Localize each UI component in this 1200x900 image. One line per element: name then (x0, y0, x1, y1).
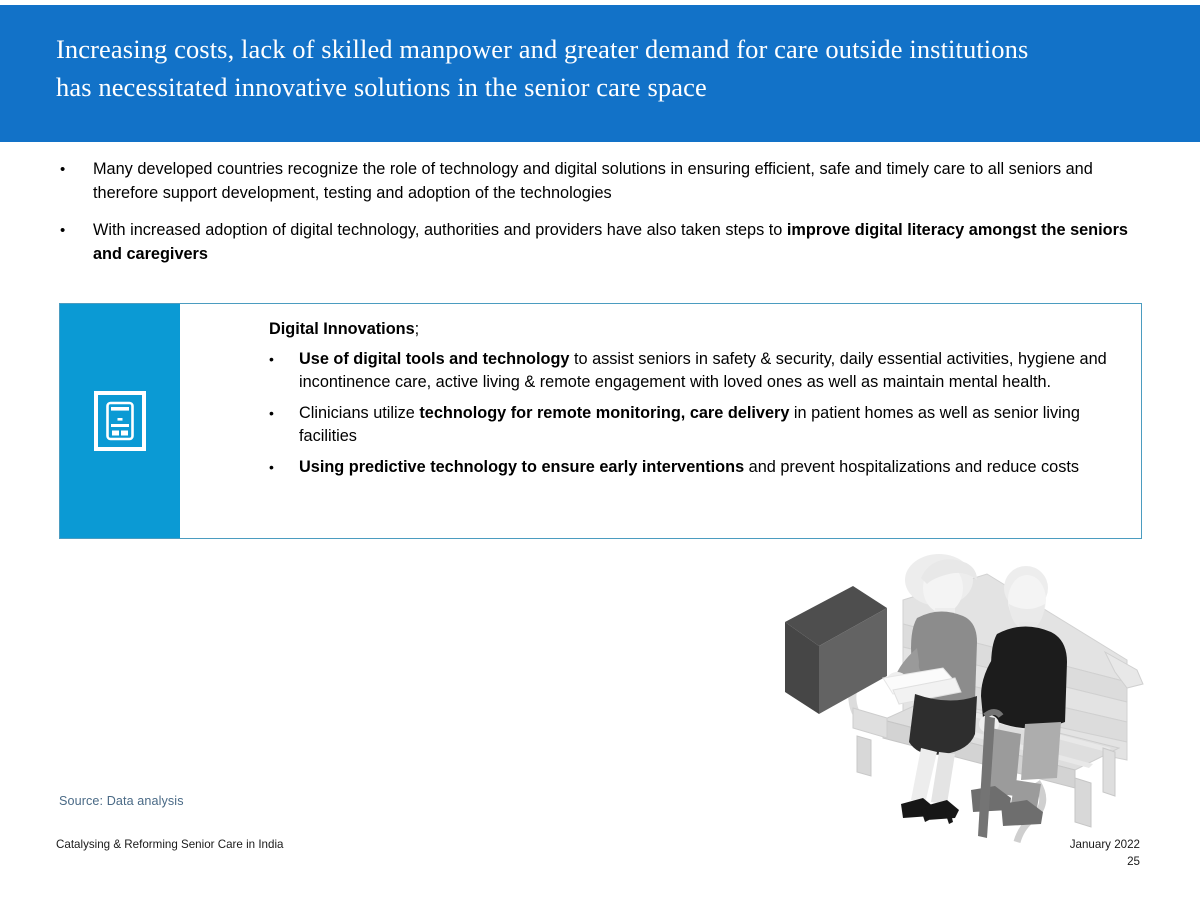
bullet-marker: • (269, 402, 299, 448)
bullet-text-bold: technology for remote monitoring, care d… (419, 404, 789, 422)
page-title-line-2: has necessitated innovative solutions in… (56, 72, 707, 102)
page-title-line-1: Increasing costs, lack of skilled manpow… (56, 34, 1028, 64)
cube-graphic (785, 586, 887, 714)
intro-bullet-list: • Many developed countries recognize the… (55, 158, 1155, 280)
bullet-marker: • (269, 456, 299, 479)
callout-heading-bold: Digital Innovations (269, 320, 415, 338)
list-item: • Many developed countries recognize the… (55, 158, 1155, 205)
list-item: • Using predictive technology to ensure … (269, 456, 1125, 479)
source-note: Source: Data analysis (59, 794, 184, 808)
two-seniors-on-bench-illustration (775, 552, 1145, 852)
bullet-text: With increased adoption of digital techn… (93, 219, 1155, 266)
digital-innovations-callout: Digital Innovations; • Use of digital to… (59, 303, 1142, 539)
bullet-text: Clinicians utilize technology for remote… (299, 402, 1125, 448)
callout-heading-tail: ; (415, 320, 420, 338)
callout-body: Digital Innovations; • Use of digital to… (180, 304, 1143, 538)
bullet-text-bold: Using predictive technology to ensure ea… (299, 458, 744, 476)
bullet-text-bold: Use of digital tools and technology (299, 350, 569, 368)
bullet-marker: • (269, 348, 299, 394)
page-title: Increasing costs, lack of skilled manpow… (56, 30, 1166, 106)
footer-document-title: Catalysing & Reforming Senior Care in In… (56, 838, 283, 851)
bullet-text-plain-1: With increased adoption of digital techn… (93, 221, 787, 239)
bullet-text: Using predictive technology to ensure ea… (299, 456, 1125, 479)
callout-heading: Digital Innovations; (269, 318, 1125, 340)
bullet-text: Use of digital tools and technology to a… (299, 348, 1125, 394)
callout-icon-panel (60, 304, 180, 538)
bullet-text-plain-1: Clinicians utilize (299, 404, 419, 422)
list-item: • Use of digital tools and technology to… (269, 348, 1125, 394)
list-item: • With increased adoption of digital tec… (55, 219, 1155, 266)
woman-figure (883, 554, 977, 824)
footer-date: January 2022 (1070, 838, 1140, 851)
bullet-marker: • (55, 219, 93, 266)
title-band: Increasing costs, lack of skilled manpow… (0, 5, 1200, 142)
bullet-text-plain-1: Many developed countries recognize the r… (93, 160, 1093, 202)
slide-canvas: Increasing costs, lack of skilled manpow… (0, 0, 1200, 900)
bullet-text: Many developed countries recognize the r… (93, 158, 1155, 205)
list-item: • Clinicians utilize technology for remo… (269, 402, 1125, 448)
bullet-marker: • (55, 158, 93, 205)
footer-page-number: 25 (1127, 855, 1140, 868)
bullet-text-plain-2: and prevent hospitalizations and reduce … (744, 458, 1079, 476)
tablet-device-icon (94, 391, 146, 451)
